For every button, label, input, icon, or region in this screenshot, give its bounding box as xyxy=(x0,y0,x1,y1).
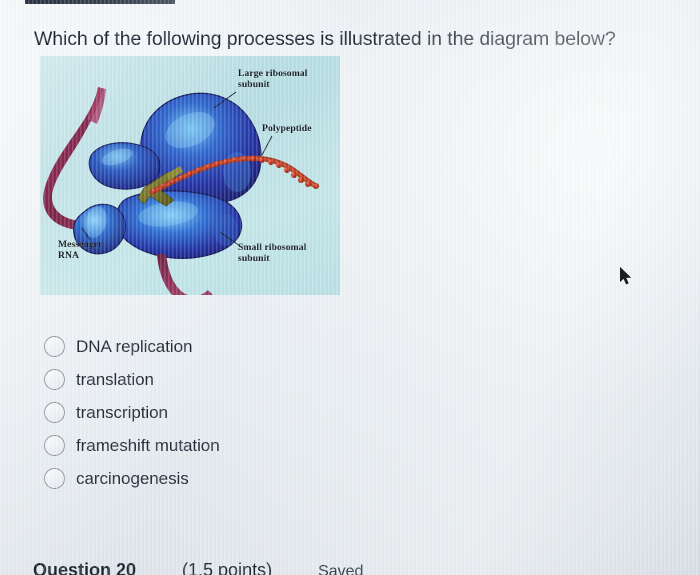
option-frameshift-mutation[interactable]: frameshift mutation xyxy=(44,429,464,462)
radio-button-carcinogenesis[interactable] xyxy=(44,468,65,489)
option-label-dna-replication: DNA replication xyxy=(76,337,192,357)
answer-options-list: DNA replication translation transcriptio… xyxy=(44,330,464,495)
diagram-label-polypeptide: Polypeptide xyxy=(262,123,312,134)
large-subunit-line-2: subunit xyxy=(238,79,307,90)
option-label-transcription: transcription xyxy=(76,403,168,423)
option-label-translation: translation xyxy=(76,370,154,390)
option-dna-replication[interactable]: DNA replication xyxy=(44,330,464,363)
option-translation[interactable]: translation xyxy=(44,363,464,396)
radio-button-translation[interactable] xyxy=(44,369,65,390)
small-subunit-line-2: subunit xyxy=(238,253,306,264)
option-label-frameshift-mutation: frameshift mutation xyxy=(76,436,220,456)
small-subunit-line-1: Small ribosomal xyxy=(238,242,306,253)
next-question-points: (1.5 points) xyxy=(182,560,272,575)
next-question-header: Question 20 (1.5 points) Saved xyxy=(33,560,673,575)
large-ribosomal-subunit xyxy=(89,93,261,203)
option-label-carcinogenesis: carcinogenesis xyxy=(76,469,189,489)
diagram-label-large-ribosomal-subunit: Large ribosomal subunit xyxy=(238,68,307,90)
ribosome-translation-diagram: Large ribosomal subunit Polypeptide Mess… xyxy=(40,56,340,295)
option-carcinogenesis[interactable]: carcinogenesis xyxy=(44,462,464,495)
question-prompt: Which of the following processes is illu… xyxy=(34,26,694,52)
saved-status-text: Saved xyxy=(318,563,363,575)
radio-button-transcription[interactable] xyxy=(44,402,65,423)
top-toolbar-strip xyxy=(25,0,175,4)
next-question-label: Question 20 xyxy=(33,560,136,575)
large-subunit-line-1: Large ribosomal xyxy=(238,68,307,79)
radio-button-dna-replication[interactable] xyxy=(44,336,65,357)
option-transcription[interactable]: transcription xyxy=(44,396,464,429)
messenger-rna-tail xyxy=(157,254,214,295)
messenger-rna-line-2: RNA xyxy=(58,250,103,261)
diagram-label-messenger-rna: Messenger RNA xyxy=(58,239,103,261)
messenger-rna-line-1: Messenger xyxy=(58,239,103,250)
radio-button-frameshift-mutation[interactable] xyxy=(44,435,65,456)
diagram-label-small-ribosomal-subunit: Small ribosomal subunit xyxy=(238,242,306,264)
